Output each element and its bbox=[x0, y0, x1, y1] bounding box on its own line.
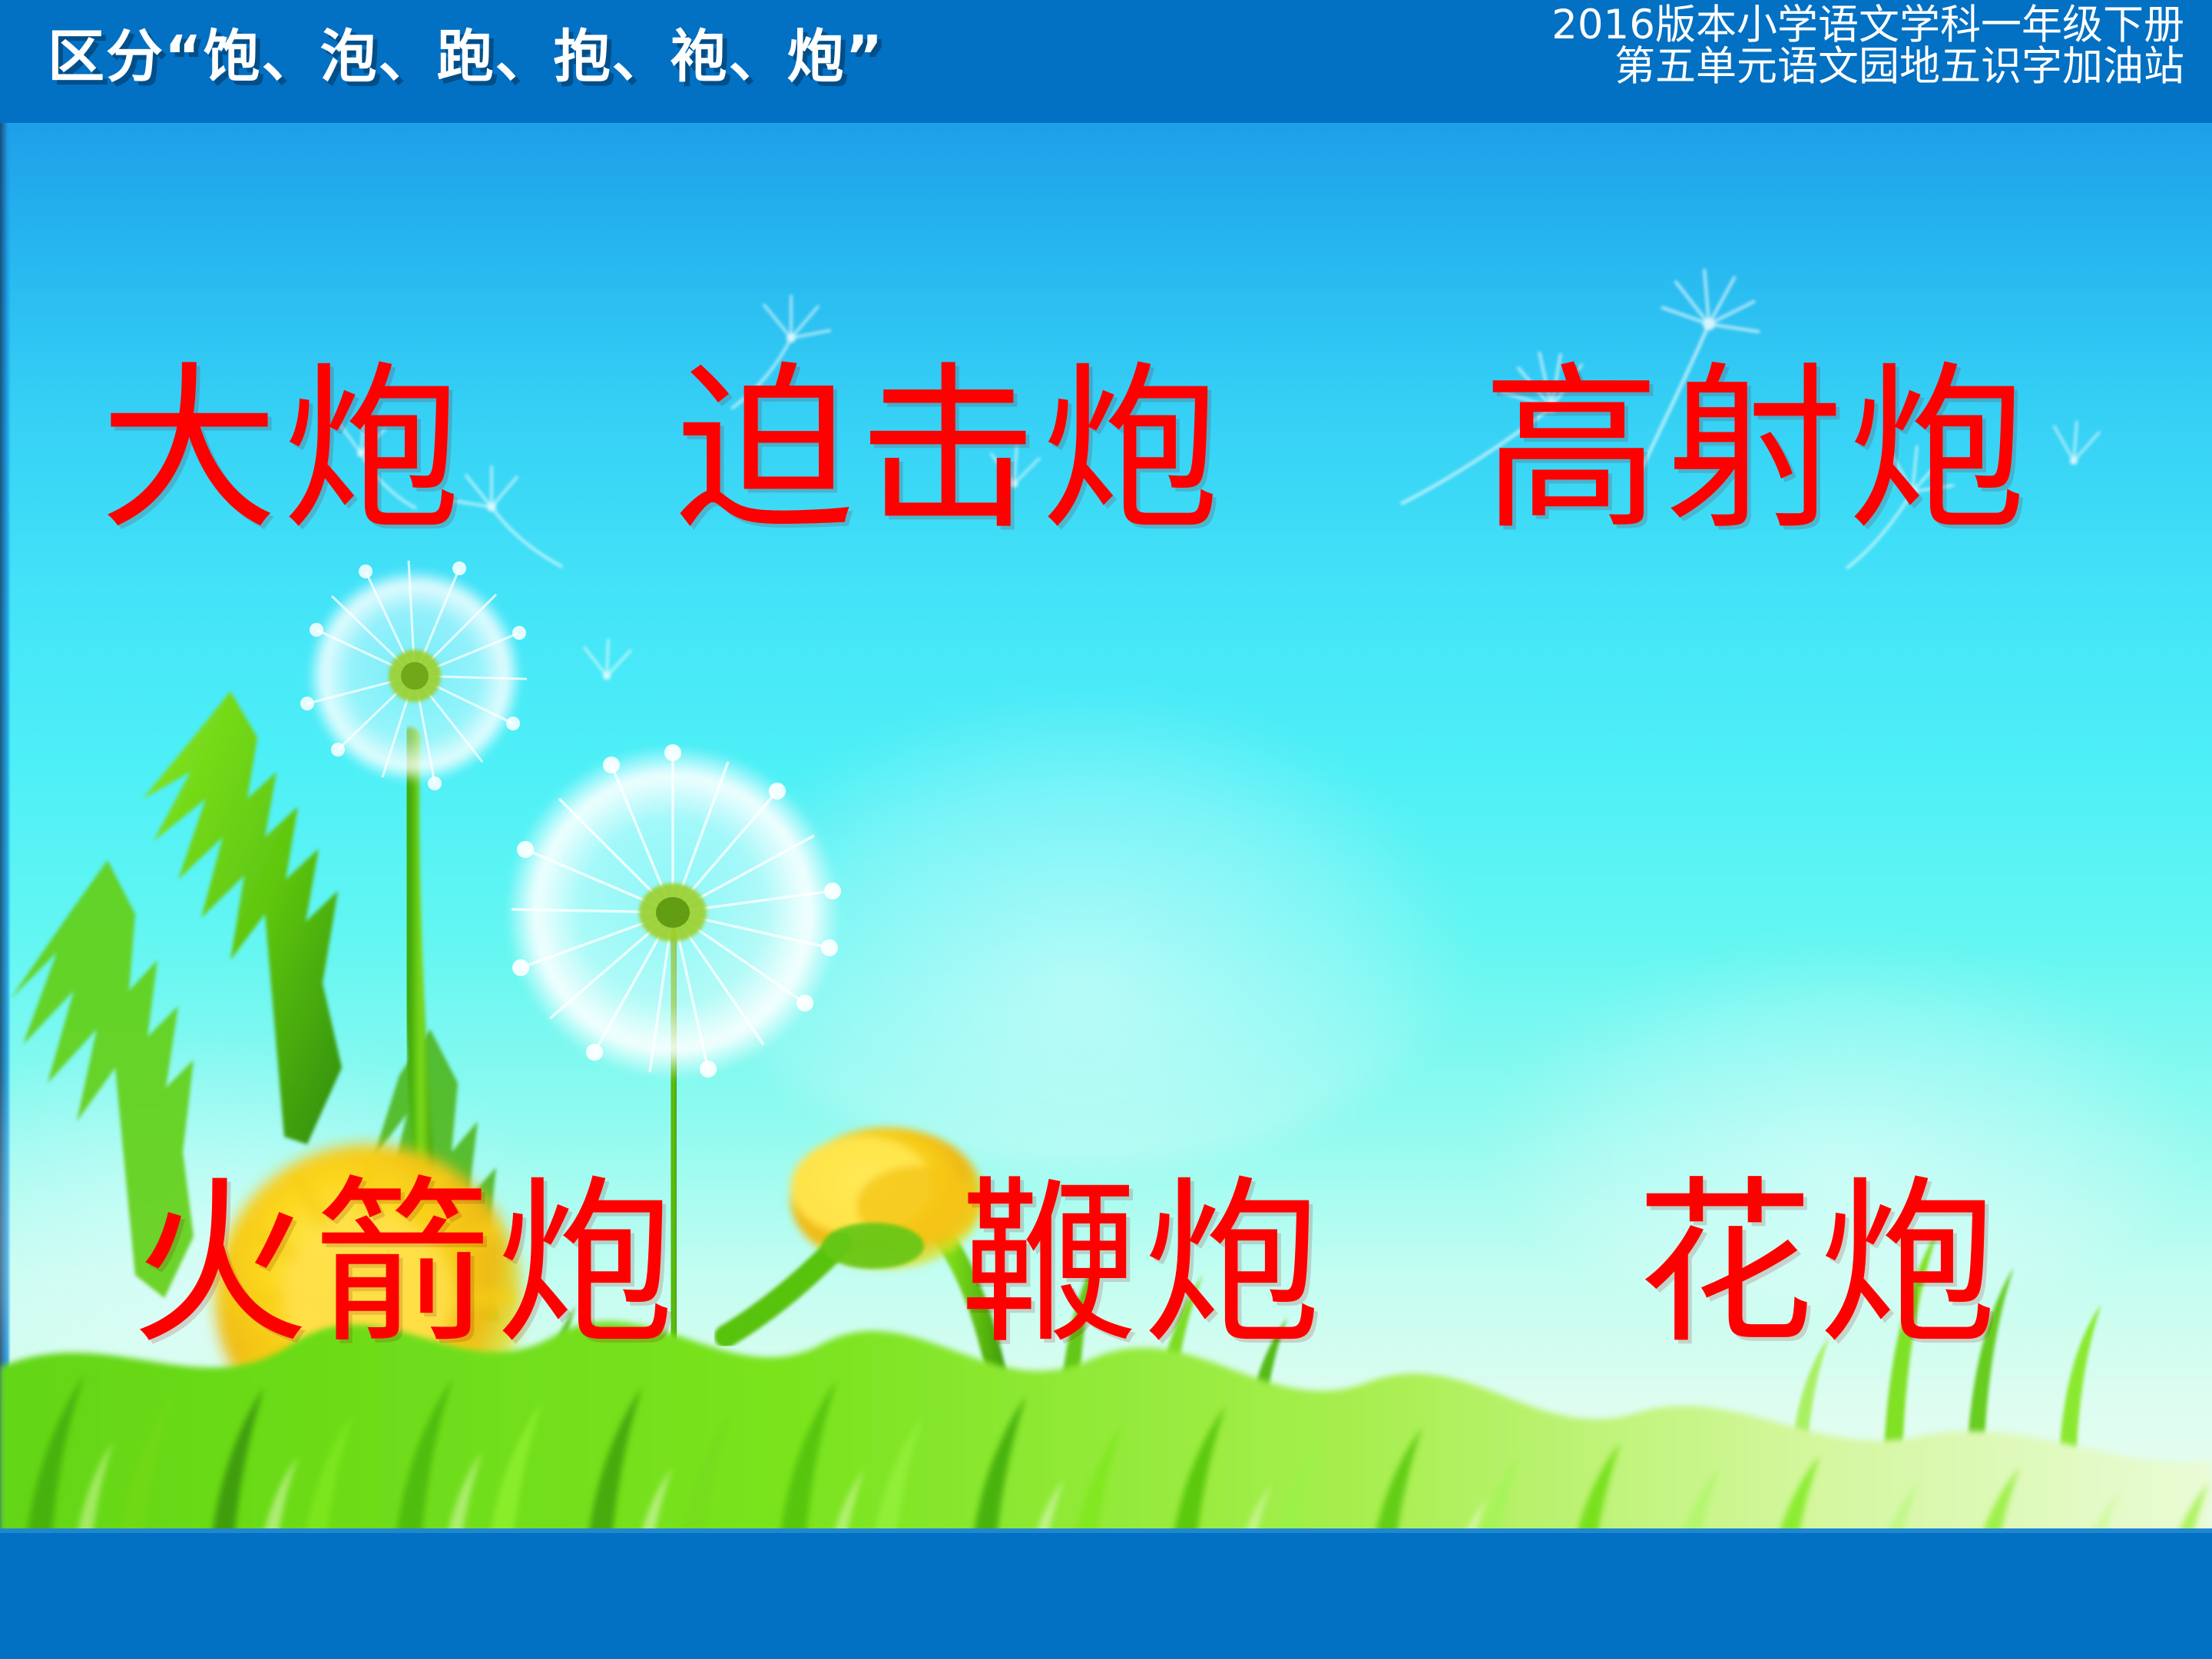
word-item: 火箭炮 bbox=[131, 1175, 679, 1353]
header-meta: 2016版本小学语文学科一年级下册 第五单元语文园地五识字加油站 bbox=[1551, 5, 2184, 88]
header-meta-line1: 2016版本小学语文学科一年级下册 bbox=[1551, 5, 2184, 46]
header-bar: 区分“饱、泡、跑、抱、袍、炮” 2016版本小学语文学科一年级下册 第五单元语文… bbox=[0, 0, 2212, 123]
word-item: 鞭炮 bbox=[960, 1175, 1326, 1353]
word-item: 迫击炮 bbox=[676, 361, 1224, 539]
footer-bar bbox=[0, 1528, 2212, 1659]
word-item: 高射炮 bbox=[1482, 361, 2031, 539]
word-item: 大炮 bbox=[100, 361, 465, 539]
footer-accent-line bbox=[0, 1528, 2212, 1533]
slide-canvas: 大炮 迫击炮 高射炮 火箭炮 鞭炮 花炮 区分“饱、泡、跑、抱、袍、炮” 201… bbox=[0, 0, 2212, 1659]
word-item: 花炮 bbox=[1636, 1175, 2002, 1353]
vocabulary-words: 大炮 迫击炮 高射炮 火箭炮 鞭炮 花炮 bbox=[0, 123, 2212, 1528]
header-meta-line2: 第五单元语文园地五识字加油站 bbox=[1551, 46, 2184, 88]
page-title: 区分“饱、泡、跑、抱、袍、炮” bbox=[48, 11, 884, 93]
